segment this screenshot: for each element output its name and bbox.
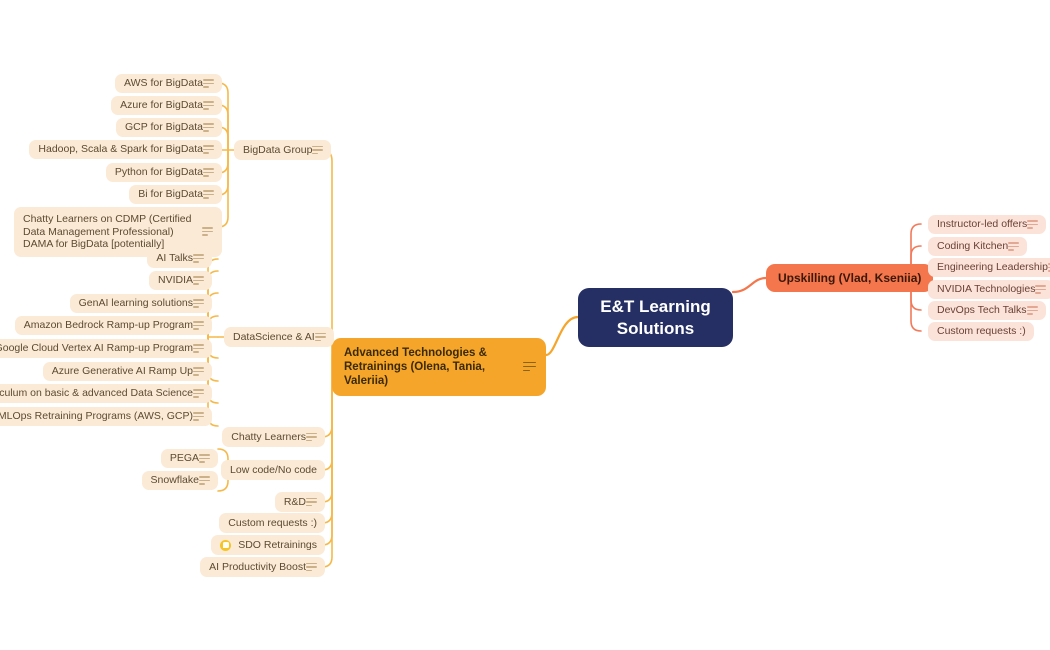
node-devops-tech-talks[interactable]: DevOps Tech Talks <box>928 301 1046 320</box>
note-icon[interactable] <box>1008 242 1019 251</box>
sticker-icon <box>220 540 231 551</box>
node-label: Custom requests :) <box>228 517 317 529</box>
node-label: Chatty Learners <box>231 431 306 443</box>
node-label: Low code/No code <box>230 464 317 476</box>
node-engineering-leadership[interactable]: Engineering Leadership <box>928 258 1050 277</box>
note-icon[interactable] <box>203 190 214 199</box>
node-hadoop-scala-spark-for-bigdata[interactable]: Hadoop, Scala & Spark for BigData <box>29 140 222 159</box>
note-icon[interactable] <box>193 412 204 421</box>
node-label: Python for BigData <box>115 167 203 178</box>
note-icon[interactable] <box>1027 220 1038 229</box>
node-label: AWS for BigData <box>124 78 203 89</box>
note-icon[interactable] <box>306 563 317 572</box>
node-azure-for-bigdata[interactable]: Azure for BigData <box>111 96 222 115</box>
node-sdo-retrainings[interactable]: SDO Retrainings <box>211 535 325 555</box>
node-azure-generative-ai-rampup[interactable]: Azure Generative AI Ramp Up <box>43 362 212 381</box>
node-bi-for-bigdata[interactable]: Bi for BigData <box>129 185 222 204</box>
node-low-code-no-code[interactable]: Low code/No code <box>221 460 325 480</box>
node-label: Engineering Leadership <box>937 262 1048 273</box>
note-icon[interactable] <box>193 344 204 353</box>
note-icon[interactable] <box>203 145 214 154</box>
node-ai-productivity-boost[interactable]: AI Productivity Boost <box>200 557 325 577</box>
branch-advanced-technologies-label: Advanced Technologies & Retrainings (Ole… <box>344 346 513 388</box>
node-rnd[interactable]: R&D <box>275 492 325 512</box>
node-instructor-led-offers[interactable]: Instructor-led offers <box>928 215 1046 234</box>
node-label: AI Productivity Boost <box>209 561 306 573</box>
node-label: R&D <box>284 496 306 508</box>
note-icon[interactable] <box>193 254 204 263</box>
note-icon[interactable] <box>203 168 214 177</box>
node-bigdata-group[interactable]: BigData Group <box>234 140 331 160</box>
node-mlops-retraining-programs[interactable]: MLOps Retraining Programs (AWS, GCP) <box>0 407 212 426</box>
note-icon[interactable] <box>315 333 326 342</box>
root-node-label: E&T Learning Solutions <box>592 296 719 340</box>
root-node[interactable]: E&T Learning Solutions <box>578 288 733 347</box>
note-icon[interactable] <box>193 367 204 376</box>
note-icon[interactable] <box>193 321 204 330</box>
node-nvidia[interactable]: NVIDIA <box>149 271 212 290</box>
node-custom-requests-right[interactable]: Custom requests :) <box>928 322 1034 341</box>
note-icon[interactable] <box>203 79 214 88</box>
node-label: GCP for BigData <box>125 122 203 133</box>
node-label: Instructor-led offers <box>937 219 1027 230</box>
note-icon[interactable] <box>306 498 317 507</box>
node-coding-kitchen[interactable]: Coding Kitchen <box>928 237 1027 256</box>
note-icon[interactable] <box>523 362 536 373</box>
node-chatty-learners[interactable]: Chatty Learners <box>222 427 325 447</box>
node-label: NVIDIA <box>158 275 193 286</box>
node-amazon-bedrock-rampup[interactable]: Amazon Bedrock Ramp-up Program <box>15 316 212 335</box>
node-datascience-ai[interactable]: DataScience & AI <box>224 327 334 347</box>
branch-upskilling[interactable]: Upskilling (Vlad, Kseniia) <box>766 264 933 292</box>
node-label: Coding Kitchen <box>937 241 1008 252</box>
node-ai-talks[interactable]: AI Talks <box>147 249 212 268</box>
node-label: Azure for BigData <box>120 100 203 111</box>
node-snowflake[interactable]: Snowflake <box>142 471 218 490</box>
note-icon[interactable] <box>203 123 214 132</box>
note-icon[interactable] <box>1035 285 1046 294</box>
node-aws-for-bigdata[interactable]: AWS for BigData <box>115 74 222 93</box>
note-icon[interactable] <box>199 476 210 485</box>
branch-advanced-technologies[interactable]: Advanced Technologies & Retrainings (Ole… <box>332 338 546 396</box>
node-python-for-bigdata[interactable]: Python for BigData <box>106 163 222 182</box>
note-icon[interactable] <box>202 227 213 236</box>
node-label: GenAI learning solutions <box>79 298 193 309</box>
node-label: BigData Group <box>243 144 312 156</box>
note-icon[interactable] <box>203 101 214 110</box>
node-label: NVIDIA Technologies <box>937 284 1035 295</box>
node-google-cloud-vertex-ai-rampup[interactable]: Google Cloud Vertex AI Ramp-up Program <box>0 339 212 358</box>
node-gcp-for-bigdata[interactable]: GCP for BigData <box>116 118 222 137</box>
branch-upskilling-label: Upskilling (Vlad, Kseniia) <box>778 271 921 285</box>
node-label: Chatty Learners on CDMP (Certified Data … <box>23 213 201 251</box>
node-label: Custom requests :) <box>937 326 1026 337</box>
node-label: AI Talks <box>156 253 193 264</box>
note-icon[interactable] <box>306 433 317 442</box>
note-icon[interactable] <box>1027 306 1038 315</box>
node-label: Azure Generative AI Ramp Up <box>52 366 193 377</box>
note-icon[interactable] <box>199 454 210 463</box>
node-curriculum-data-science[interactable]: curriculum on basic & advanced Data Scie… <box>0 384 212 403</box>
note-icon[interactable] <box>193 276 204 285</box>
node-label: DataScience & AI <box>233 331 315 343</box>
mindmap-canvas: E&T Learning Solutions Upskilling (Vlad,… <box>0 0 1050 650</box>
node-label: Snowflake <box>151 475 199 486</box>
node-label: PEGA <box>170 453 199 464</box>
node-label: Hadoop, Scala & Spark for BigData <box>38 144 203 155</box>
node-label: SDO Retrainings <box>238 539 317 551</box>
node-label: DevOps Tech Talks <box>937 305 1027 316</box>
node-label: Amazon Bedrock Ramp-up Program <box>24 320 193 331</box>
note-icon[interactable] <box>312 146 323 155</box>
node-label: curriculum on basic & advanced Data Scie… <box>0 388 193 399</box>
node-pega[interactable]: PEGA <box>161 449 218 468</box>
node-label: Bi for BigData <box>138 189 203 200</box>
node-genai-learning-solutions[interactable]: GenAI learning solutions <box>70 294 212 313</box>
node-custom-requests-left[interactable]: Custom requests :) <box>219 513 325 533</box>
node-label: Google Cloud Vertex AI Ramp-up Program <box>0 343 193 354</box>
node-nvidia-technologies[interactable]: NVIDIA Technologies <box>928 280 1050 299</box>
note-icon[interactable] <box>193 389 204 398</box>
node-label: MLOps Retraining Programs (AWS, GCP) <box>0 411 193 422</box>
note-icon[interactable] <box>193 299 204 308</box>
